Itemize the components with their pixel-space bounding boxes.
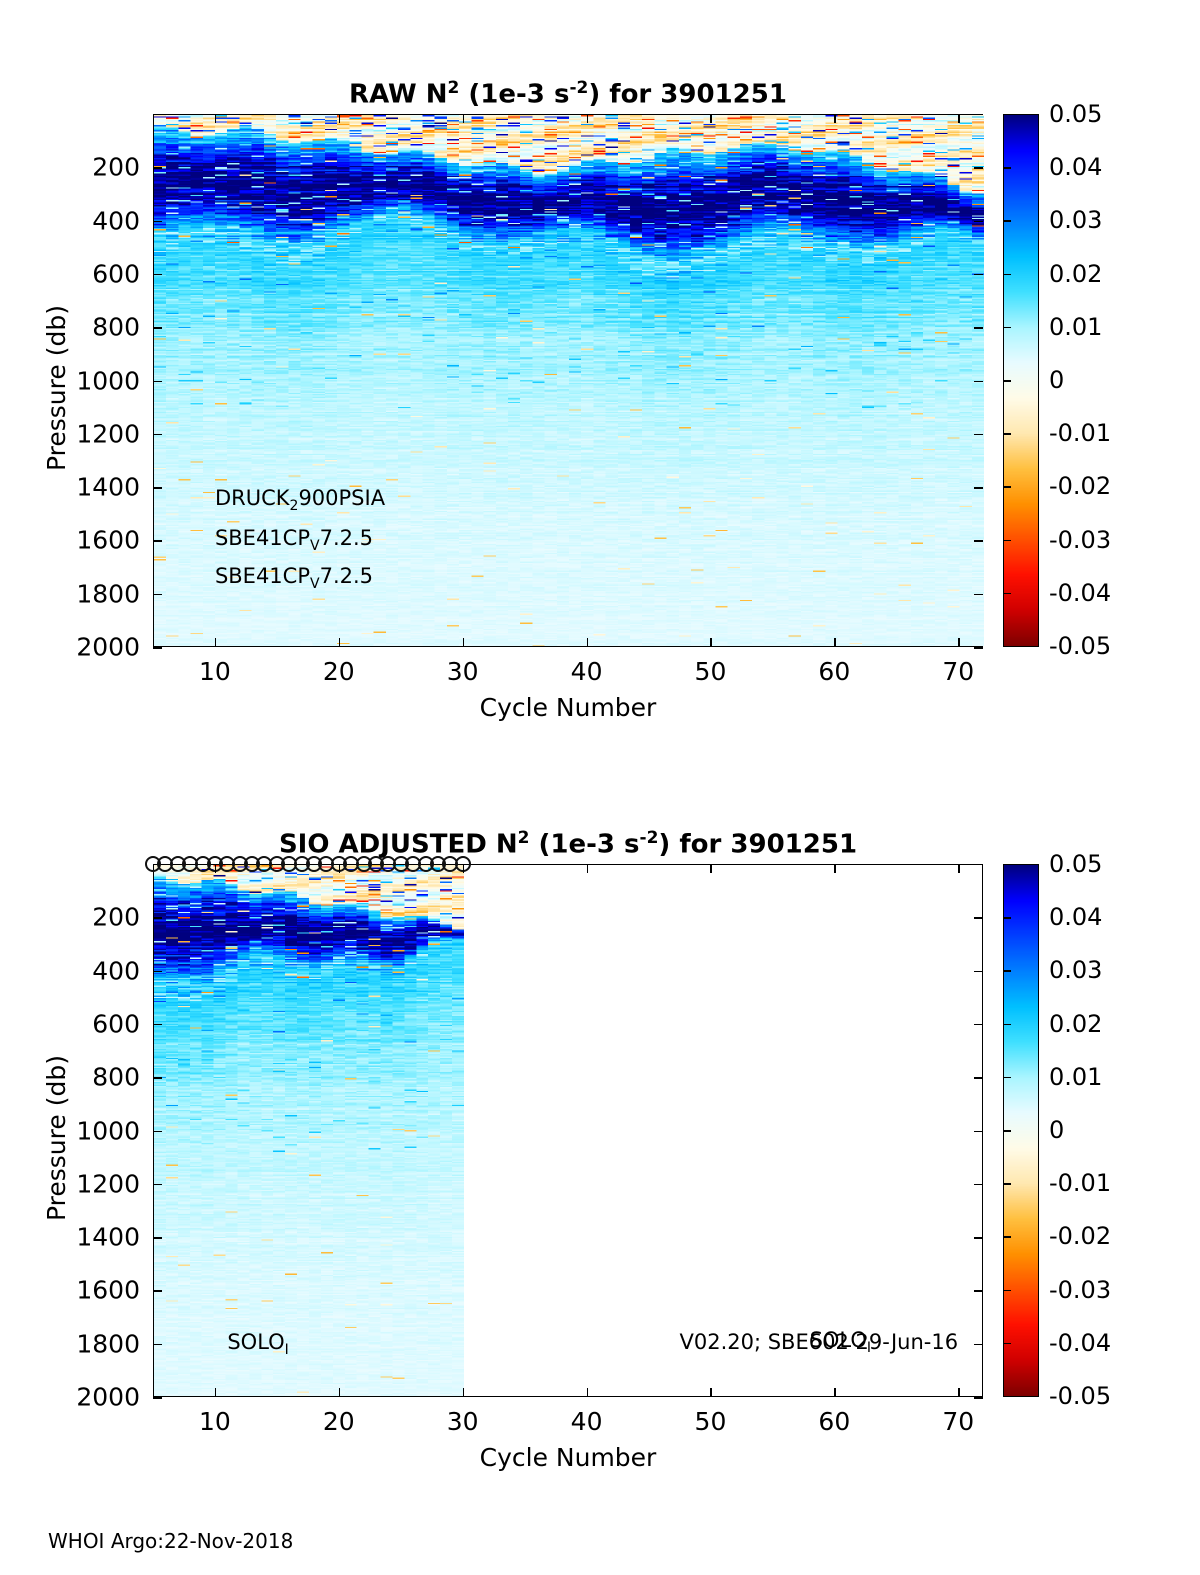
yaxis-tick-mark xyxy=(974,594,983,596)
panel-raw: RAW N2 (1e-3 s-2) for 3901251 Cycle Numb… xyxy=(0,0,1200,760)
panel-adjusted-axes xyxy=(153,864,983,1397)
annotation-main: SBE41CP xyxy=(215,564,310,588)
panel-raw-title: RAW N2 (1e-3 s-2) for 3901251 xyxy=(153,78,983,110)
colorbar-tick-label: 0.02 xyxy=(1049,1010,1102,1038)
yaxis-tick-mark xyxy=(153,327,162,329)
yaxis-tick-mark xyxy=(153,167,162,169)
yaxis-tick-mark xyxy=(153,434,162,436)
xaxis-tick-label: 50 xyxy=(695,657,727,686)
colorbar-tick-label: 0.05 xyxy=(1049,850,1102,878)
yaxis-tick-label: 400 xyxy=(60,206,140,235)
colorbar-tick-label: -0.04 xyxy=(1049,1329,1111,1357)
yaxis-tick-mark xyxy=(974,434,983,436)
yaxis-tick-mark xyxy=(153,1024,162,1026)
yaxis-tick-mark xyxy=(153,1344,162,1346)
colorbar-tick-label: 0.01 xyxy=(1049,1063,1102,1091)
yaxis-tick-label: 800 xyxy=(60,313,140,342)
yaxis-tick-mark xyxy=(153,487,162,489)
yaxis-tick-label: 600 xyxy=(60,1009,140,1038)
xaxis-tick-label: 20 xyxy=(323,1407,355,1436)
yaxis-tick-mark xyxy=(974,1131,983,1133)
yaxis-tick-label: 2000 xyxy=(60,633,140,662)
yaxis-tick-mark xyxy=(153,274,162,276)
yaxis-tick-label: 200 xyxy=(60,903,140,932)
colorbar-tick-mark xyxy=(1003,1343,1011,1345)
xaxis-tick-label: 20 xyxy=(323,657,355,686)
xaxis-tick-label: 10 xyxy=(199,657,231,686)
yaxis-tick-label: 800 xyxy=(60,1063,140,1092)
colorbar-tick-label: -0.05 xyxy=(1049,632,1111,660)
xaxis-tick-mark xyxy=(710,1388,712,1397)
xaxis-tick-mark xyxy=(339,114,341,123)
title-superscript: 2 xyxy=(518,828,530,848)
yaxis-tick-mark xyxy=(153,647,162,649)
colorbar-tick-mark xyxy=(1003,486,1011,488)
yaxis-tick-label: 600 xyxy=(60,259,140,288)
title-text: SIO ADJUSTED N xyxy=(279,830,518,860)
xaxis-tick-mark xyxy=(463,864,465,873)
title-superscript: -2 xyxy=(640,828,659,848)
colorbar-tick-label: 0.03 xyxy=(1049,206,1102,234)
yaxis-tick-mark xyxy=(974,167,983,169)
colorbar-tick-label: 0.04 xyxy=(1049,153,1102,181)
panel-adjusted-heatmap xyxy=(154,865,464,1396)
plot-annotation: SOLOI xyxy=(227,1330,288,1358)
yaxis-tick-label: 1200 xyxy=(60,419,140,448)
title-text: (1e-3 s xyxy=(459,80,569,110)
panel-adjusted-title: SIO ADJUSTED N2 (1e-3 s-2) for 3901251 xyxy=(153,828,983,860)
yaxis-tick-mark xyxy=(153,1237,162,1239)
yaxis-tick-mark xyxy=(153,540,162,542)
xaxis-tick-mark xyxy=(834,1388,836,1397)
colorbar-tick-label: -0.01 xyxy=(1049,1169,1111,1197)
annotation-main: DRUCK xyxy=(215,486,290,510)
colorbar-tick-mark xyxy=(1003,220,1011,222)
yaxis-tick-label: 400 xyxy=(60,956,140,985)
plot-annotation: DRUCK2900PSIA xyxy=(215,486,385,514)
colorbar-tick-mark xyxy=(1003,1077,1011,1079)
xaxis-tick-label: 40 xyxy=(571,1407,603,1436)
xaxis-tick-mark xyxy=(834,864,836,873)
yaxis-tick-mark xyxy=(153,971,162,973)
annotation-tail: 900PSIA xyxy=(298,486,385,510)
yaxis-tick-mark xyxy=(974,971,983,973)
yaxis-tick-label: 2000 xyxy=(60,1383,140,1412)
colorbar-tick-mark xyxy=(1003,1236,1011,1238)
xaxis-tick-mark xyxy=(587,114,589,123)
colorbar-tick-label: -0.03 xyxy=(1049,1276,1111,1304)
xaxis-tick-label: 10 xyxy=(199,1407,231,1436)
xaxis-tick-mark xyxy=(958,1388,960,1397)
colorbar-tick-label: -0.04 xyxy=(1049,579,1111,607)
annotation-tail: 7.2.5 xyxy=(320,564,373,588)
xaxis-tick-mark xyxy=(463,1388,465,1397)
yaxis-tick-label: 1200 xyxy=(60,1169,140,1198)
xaxis-tick-mark xyxy=(958,638,960,647)
colorbar-tick-label: 0.03 xyxy=(1049,956,1102,984)
colorbar-tick-mark xyxy=(1003,917,1011,919)
yaxis-tick-label: 1800 xyxy=(60,1329,140,1358)
yaxis-tick-label: 1600 xyxy=(60,526,140,555)
colorbar-tick-label: -0.05 xyxy=(1049,1382,1111,1410)
colorbar-tick-label: -0.02 xyxy=(1049,472,1111,500)
annotation-subscript: I xyxy=(867,1341,871,1357)
yaxis-tick-mark xyxy=(974,274,983,276)
yaxis-tick-mark xyxy=(153,1290,162,1292)
yaxis-tick-mark xyxy=(974,487,983,489)
yaxis-tick-mark xyxy=(974,540,983,542)
yaxis-tick-label: 1000 xyxy=(60,366,140,395)
title-text: ) for 3901251 xyxy=(588,80,787,110)
xaxis-tick-mark xyxy=(463,114,465,123)
yaxis-tick-label: 1600 xyxy=(60,1276,140,1305)
panel-adjusted-xaxis-label: Cycle Number xyxy=(153,1443,983,1472)
xaxis-tick-label: 70 xyxy=(942,657,974,686)
yaxis-tick-label: 1800 xyxy=(60,579,140,608)
colorbar-tick-mark xyxy=(1003,1290,1011,1292)
yaxis-tick-mark xyxy=(153,917,162,919)
xaxis-tick-mark xyxy=(215,114,217,123)
yaxis-tick-mark xyxy=(974,221,983,223)
colorbar-tick-label: -0.01 xyxy=(1049,419,1111,447)
colorbar-tick-mark xyxy=(1003,1183,1011,1185)
colorbar-tick-mark xyxy=(1003,1130,1011,1132)
colorbar-tick-mark xyxy=(1003,1024,1011,1026)
xaxis-tick-mark xyxy=(834,114,836,123)
title-text: (1e-3 s xyxy=(529,830,639,860)
title-superscript: 2 xyxy=(448,78,460,98)
yaxis-tick-mark xyxy=(974,1237,983,1239)
yaxis-tick-label: 1400 xyxy=(60,473,140,502)
annotation-main: SBE41CP xyxy=(215,526,310,550)
colorbar-tick-mark xyxy=(1003,380,1011,382)
xaxis-tick-label: 50 xyxy=(695,1407,727,1436)
plot-annotation: SOLOI xyxy=(810,1328,871,1356)
xaxis-tick-mark xyxy=(710,114,712,123)
yaxis-tick-mark xyxy=(974,1344,983,1346)
annotation-subscript: I xyxy=(285,1342,289,1358)
yaxis-tick-mark xyxy=(974,381,983,383)
xaxis-tick-label: 30 xyxy=(447,657,479,686)
colorbar-tick-label: 0 xyxy=(1049,366,1064,394)
xaxis-tick-label: 70 xyxy=(942,1407,974,1436)
yaxis-tick-mark xyxy=(974,1024,983,1026)
colorbar-tick-mark xyxy=(1003,593,1011,595)
title-superscript: -2 xyxy=(569,78,588,98)
xaxis-tick-mark xyxy=(958,114,960,123)
title-text: RAW N xyxy=(349,80,447,110)
xaxis-tick-label: 60 xyxy=(818,657,850,686)
xaxis-tick-mark xyxy=(587,638,589,647)
colorbar-tick-label: 0.01 xyxy=(1049,313,1102,341)
yaxis-tick-mark xyxy=(153,381,162,383)
panel-adjusted: SIO ADJUSTED N2 (1e-3 s-2) for 3901251 C… xyxy=(0,745,1200,1525)
plot-annotation: SBE41CPV7.2.5 xyxy=(215,564,373,592)
yaxis-tick-mark xyxy=(974,327,983,329)
yaxis-tick-mark xyxy=(153,221,162,223)
colorbar-tick-label: 0.02 xyxy=(1049,260,1102,288)
annotation-main: SOLO xyxy=(227,1330,284,1354)
xaxis-tick-label: 30 xyxy=(447,1407,479,1436)
yaxis-tick-mark xyxy=(974,1184,983,1186)
colorbar-tick-label: 0 xyxy=(1049,1116,1064,1144)
xaxis-tick-mark xyxy=(215,864,217,873)
footer-credit: WHOI Argo:22-Nov-2018 xyxy=(48,1529,293,1553)
colorbar-tick-label: -0.02 xyxy=(1049,1222,1111,1250)
yaxis-tick-mark xyxy=(974,917,983,919)
xaxis-tick-mark xyxy=(339,1388,341,1397)
colorbar-tick-mark xyxy=(1003,274,1011,276)
colorbar-tick-mark xyxy=(1003,167,1011,169)
colorbar-tick-label: 0.05 xyxy=(1049,100,1102,128)
panel-raw-xaxis-label: Cycle Number xyxy=(153,693,983,722)
title-text: ) for 3901251 xyxy=(658,830,857,860)
annotation-subscript: V xyxy=(310,539,320,555)
yaxis-tick-mark xyxy=(974,1077,983,1079)
annotation-tail: 7.2.5 xyxy=(320,526,373,550)
xaxis-tick-mark xyxy=(587,1388,589,1397)
yaxis-tick-label: 1400 xyxy=(60,1223,140,1252)
xaxis-tick-mark xyxy=(710,864,712,873)
annotation-subscript: V xyxy=(310,576,320,592)
plot-annotation: SBE41CPV7.2.5 xyxy=(215,526,373,554)
xaxis-tick-mark xyxy=(463,638,465,647)
yaxis-tick-mark xyxy=(974,1290,983,1292)
yaxis-tick-mark xyxy=(153,594,162,596)
xaxis-tick-mark xyxy=(215,1388,217,1397)
xaxis-tick-label: 40 xyxy=(571,657,603,686)
colorbar-tick-mark xyxy=(1003,540,1011,542)
xaxis-tick-mark xyxy=(710,638,712,647)
xaxis-tick-mark xyxy=(215,638,217,647)
yaxis-tick-mark xyxy=(153,1077,162,1079)
colorbar-tick-label: 0.04 xyxy=(1049,903,1102,931)
yaxis-tick-mark xyxy=(153,1184,162,1186)
yaxis-tick-mark xyxy=(153,1397,162,1399)
yaxis-tick-mark xyxy=(153,1131,162,1133)
xaxis-tick-mark xyxy=(834,638,836,647)
xaxis-tick-mark xyxy=(587,864,589,873)
xaxis-tick-mark xyxy=(339,638,341,647)
xaxis-tick-mark xyxy=(339,864,341,873)
yaxis-tick-mark xyxy=(974,1397,983,1399)
colorbar-tick-mark xyxy=(1003,433,1011,435)
yaxis-tick-mark xyxy=(974,647,983,649)
colorbar-tick-mark xyxy=(1003,970,1011,972)
colorbar-tick-label: -0.03 xyxy=(1049,526,1111,554)
colorbar-tick-mark xyxy=(1003,327,1011,329)
yaxis-tick-label: 200 xyxy=(60,153,140,182)
xaxis-tick-label: 60 xyxy=(818,1407,850,1436)
xaxis-tick-mark xyxy=(958,864,960,873)
annotation-main: SOLO xyxy=(810,1328,867,1352)
yaxis-tick-label: 1000 xyxy=(60,1116,140,1145)
